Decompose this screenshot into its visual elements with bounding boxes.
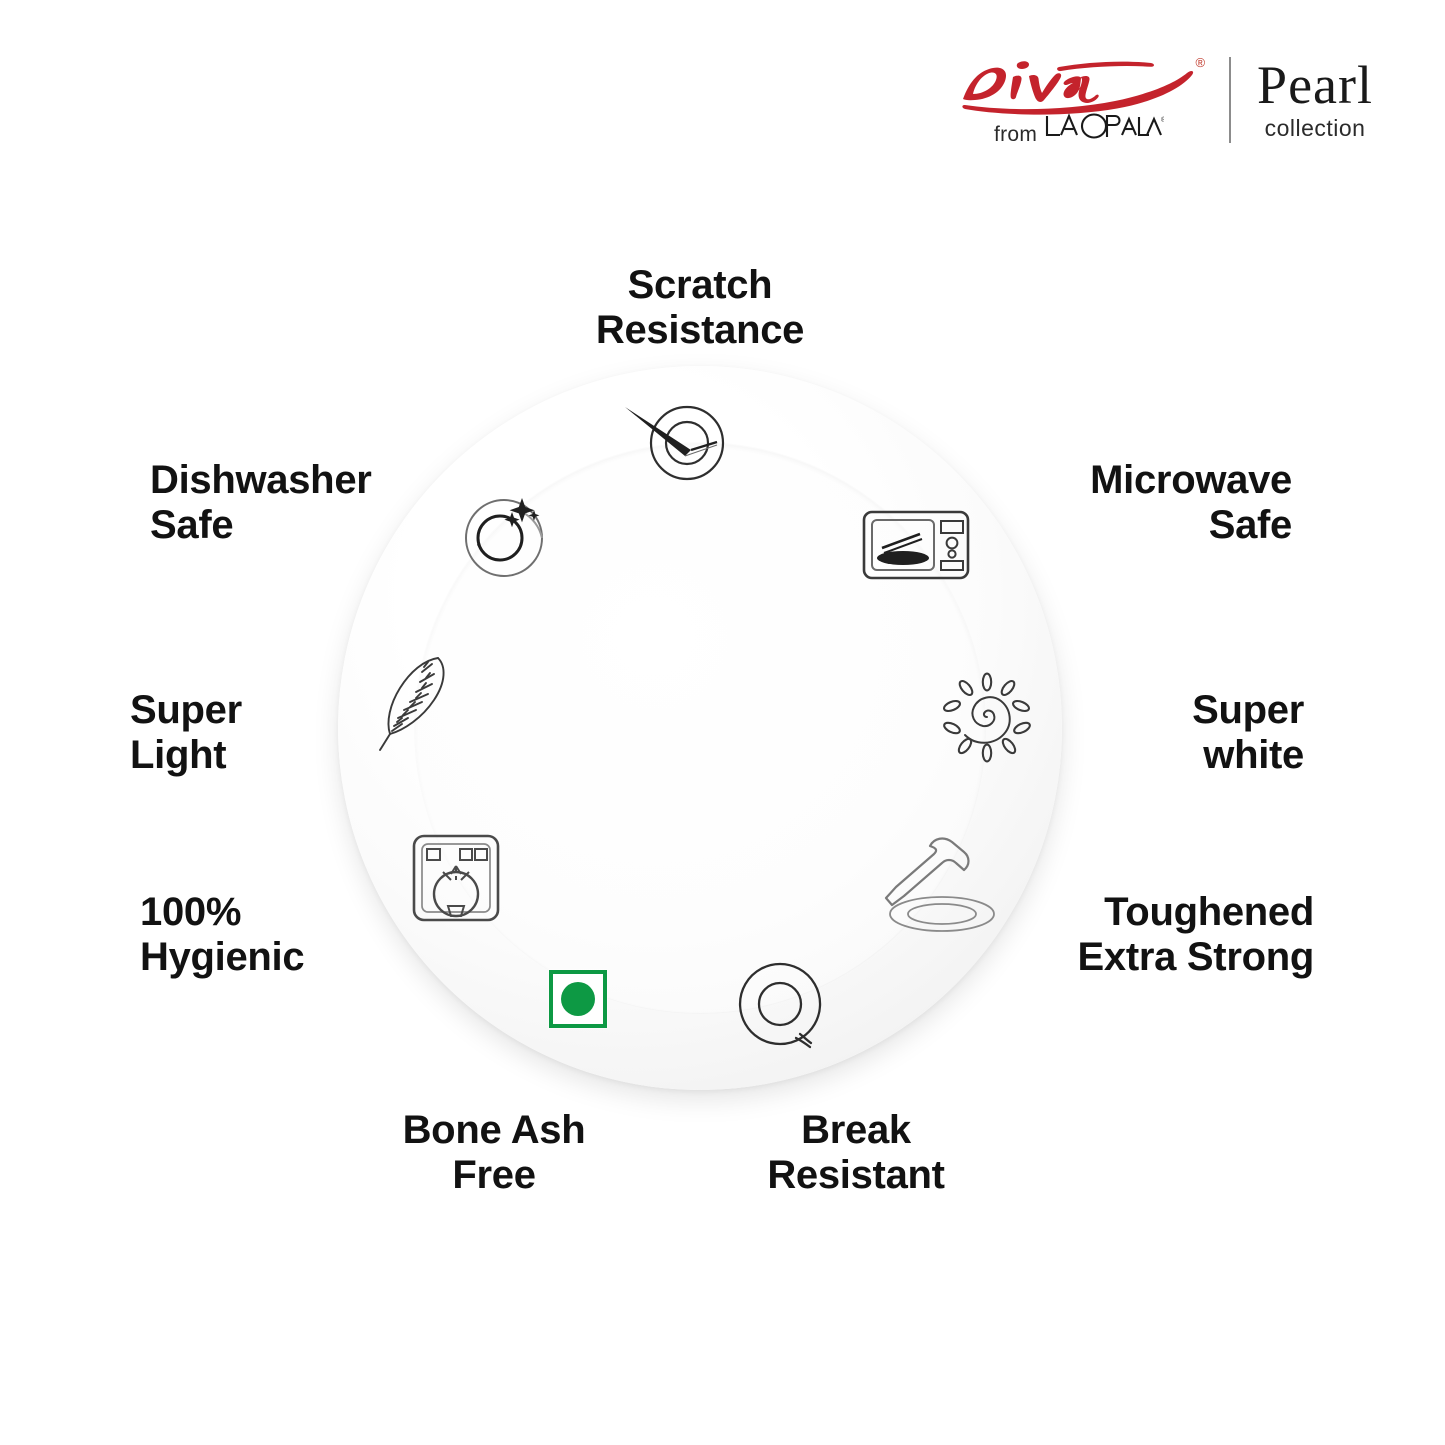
collection-logo: Pearl collection [1257, 58, 1373, 142]
feature-label-dishwasher-safe: Dishwasher Safe [150, 458, 380, 548]
diva-registered-mark: ® [1195, 55, 1205, 70]
feature-label-scratch-resistance: Scratch Resistance [522, 263, 878, 353]
feature-label-toughened: Toughened Extra Strong [1058, 890, 1314, 980]
la-opala-wordmark-icon: ® [1044, 113, 1164, 141]
feature-label-break-resistant: Break Resistant [700, 1108, 1012, 1198]
washing-machine-icon [410, 832, 502, 924]
hammer-plate-icon [882, 832, 998, 936]
from-text: from [994, 123, 1037, 147]
diva-wordmark-icon: ® [955, 53, 1203, 115]
sparkling-plate-icon [456, 488, 552, 584]
feature-label-super-light: Super Light [130, 688, 290, 778]
feature-label-bone-ash-free: Bone Ash Free [328, 1108, 660, 1198]
collection-title: Pearl [1257, 58, 1373, 112]
feather-icon [376, 648, 462, 756]
microwave-oven-icon [862, 508, 970, 588]
plate-scratch-knife-icon [621, 398, 741, 484]
feature-label-hygienic: 100% Hygienic [140, 890, 354, 980]
bouncing-plate-icon [728, 958, 832, 1058]
sun-spiral-icon [938, 668, 1036, 766]
feature-label-super-white: Super white [1104, 688, 1304, 778]
feature-label-microwave-safe: Microwave Safe [1022, 458, 1292, 548]
product-feature-infographic: ® from [0, 0, 1445, 1445]
diva-sublabel: from [994, 113, 1164, 147]
collection-subtitle: collection [1265, 115, 1366, 142]
vegetarian-green-mark-icon [547, 968, 609, 1030]
brand-divider [1229, 57, 1231, 143]
diva-logo: ® from [955, 53, 1203, 147]
brand-header: ® from [955, 46, 1373, 154]
svg-text:®: ® [1161, 116, 1164, 124]
dinner-plate-image [338, 366, 1062, 1090]
